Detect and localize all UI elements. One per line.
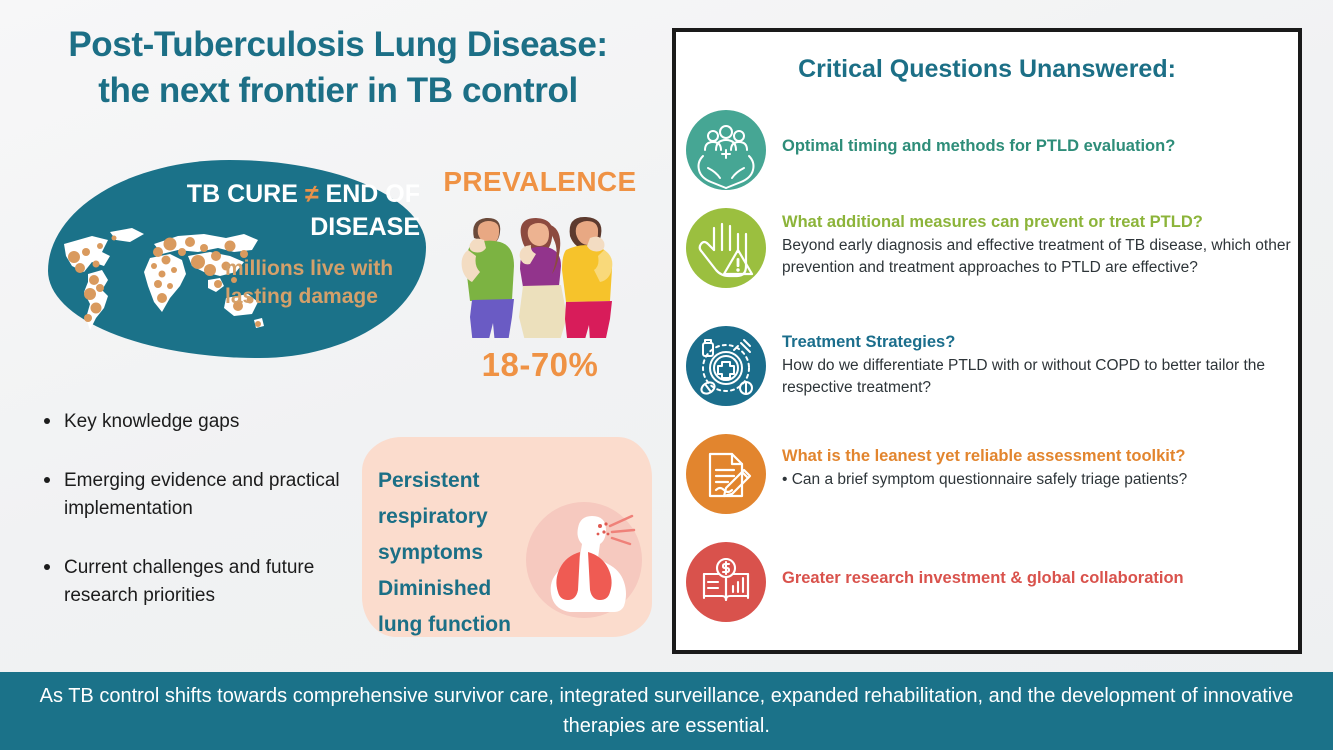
end-of-text: END OF: [326, 180, 420, 208]
lungs-cough-icon: [524, 500, 644, 620]
list-item: Key knowledge gaps: [40, 408, 340, 437]
key-points-list: Key knowledge gaps Emerging evidence and…: [40, 408, 340, 641]
symptoms-line-1: Persistent respiratory: [378, 469, 488, 528]
tb-cure-headline: TB CURE ≠ END OF DISEASE: [66, 178, 426, 244]
list-item: Current challenges and future research p…: [40, 554, 340, 611]
question-row-4[interactable]: What is the leanest yet reliable assessm…: [686, 434, 1296, 514]
question-heading-1: Optimal timing and methods for PTLD eval…: [782, 136, 1294, 157]
question-text-2: Beyond early diagnosis and effective tre…: [782, 235, 1294, 278]
question-body-2: What additional measures can prevent or …: [782, 208, 1294, 278]
hand-warning-icon: [686, 208, 766, 288]
footer-text: As TB control shifts towards comprehensi…: [17, 681, 1317, 741]
question-row-3[interactable]: Treatment Strategies? How do we differen…: [686, 326, 1296, 406]
question-row-2[interactable]: What additional measures can prevent or …: [686, 208, 1296, 288]
question-heading-5: Greater research investment & global col…: [782, 568, 1294, 589]
prevalence-value: 18-70%: [430, 346, 650, 384]
question-row-1[interactable]: Optimal timing and methods for PTLD eval…: [686, 110, 1296, 190]
infographic-root: Post-Tuberculosis Lung Disease: the next…: [0, 0, 1333, 750]
symptoms-line-4: lung function: [378, 613, 511, 636]
prevalence-label: PREVALENCE: [430, 166, 650, 198]
symptoms-line-2: symptoms: [378, 541, 483, 564]
symptoms-line-3: Diminished: [378, 577, 491, 600]
question-body-3: Treatment Strategies? How do we differen…: [782, 326, 1294, 398]
question-text-4: • Can a brief symptom questionnaire safe…: [782, 469, 1294, 490]
question-body-1: Optimal timing and methods for PTLD eval…: [782, 110, 1294, 159]
question-heading-3: Treatment Strategies?: [782, 332, 1294, 353]
blob-sub-line-1: millions live with: [225, 257, 393, 280]
title-line-1: Post-Tuberculosis Lung Disease:: [68, 25, 607, 64]
clipboard-pencil-icon: [686, 434, 766, 514]
medical-treatment-icon: [686, 326, 766, 406]
question-heading-2: What additional measures can prevent or …: [782, 212, 1294, 233]
question-body-4: What is the leanest yet reliable assessm…: [782, 434, 1294, 491]
disease-text: DISEASE: [310, 213, 420, 241]
question-heading-4: What is the leanest yet reliable assessm…: [782, 446, 1294, 467]
page-title: Post-Tuberculosis Lung Disease: the next…: [18, 22, 658, 114]
three-coughing-people-icon: [440, 198, 640, 338]
question-text-3: How do we differentiate PTLD with or wit…: [782, 355, 1294, 398]
question-row-5[interactable]: Greater research investment & global col…: [686, 542, 1296, 622]
title-line-2: the next frontier in TB control: [98, 71, 578, 110]
blob-subtext: millions live with lasting damage: [225, 255, 425, 311]
hands-holding-people-icon: [686, 110, 766, 190]
book-investment-icon: [686, 542, 766, 622]
panel-title: Critical Questions Unanswered:: [672, 55, 1302, 84]
question-body-5: Greater research investment & global col…: [782, 542, 1294, 591]
tb-cure-text: TB CURE: [187, 180, 298, 208]
footer-banner: As TB control shifts towards comprehensi…: [0, 672, 1333, 750]
list-item: Emerging evidence and practical implemen…: [40, 467, 340, 524]
not-equal-icon: ≠: [305, 180, 319, 208]
blob-sub-line-2: lasting damage: [225, 285, 378, 308]
